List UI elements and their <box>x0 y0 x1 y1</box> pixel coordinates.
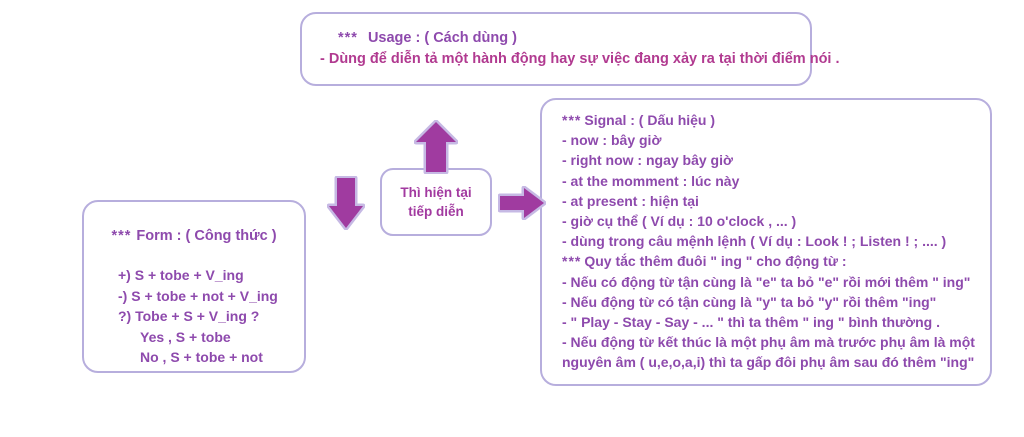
form-line-yes: Yes , S + tobe <box>118 327 304 348</box>
signal-item-specific-time: - giờ cụ thể ( Ví dụ : 10 o'clock , ... … <box>562 211 984 231</box>
signal-box: ***Signal : ( Dấu hiệu ) - now : bây giờ… <box>540 98 992 386</box>
form-line-question: ?) Tobe + S + V_ing ? <box>118 306 304 327</box>
center-node-line1: Thì hiện tại <box>400 183 471 202</box>
rule-item-double-consonant: - Nếu động từ kết thúc là một phụ âm mà … <box>562 332 984 372</box>
form-title: ***Form : ( Công thức ) <box>84 228 304 244</box>
form-stars: *** <box>111 228 131 244</box>
usage-heading: ***Usage : ( Cách dùng ) <box>320 28 800 49</box>
signal-item-at-the-momment: - at the momment : lúc này <box>562 171 984 191</box>
usage-box: ***Usage : ( Cách dùng ) - Dùng để diễn … <box>300 12 812 86</box>
usage-heading-text: Usage : ( Cách dùng ) <box>368 30 517 46</box>
usage-detail: - Dùng để diễn tả một hành động hay sự v… <box>320 49 800 70</box>
signal-stars: *** <box>562 112 581 128</box>
signal-heading-text: Signal : ( Dấu hiệu ) <box>584 112 715 128</box>
rule-item-play-stay-say: - " Play - Stay - Say - ... " thì ta thê… <box>562 312 984 332</box>
signal-heading: ***Signal : ( Dấu hiệu ) <box>562 110 984 130</box>
signal-item-right-now: - right now : ngay bây giờ <box>562 150 984 170</box>
form-formula-list: +) S + tobe + V_ing -) S + tobe + not + … <box>84 265 304 368</box>
usage-stars: *** <box>338 30 358 46</box>
signal-item-now: - now : bây giờ <box>562 130 984 150</box>
signal-item-at-present: - at present : hiện tại <box>562 191 984 211</box>
rule-stars: *** <box>562 253 581 269</box>
rule-heading-text: Quy tắc thêm đuôi " ing " cho động từ : <box>584 253 846 269</box>
arrow-down-icon <box>327 176 365 230</box>
form-line-no: No , S + tobe + not <box>118 347 304 368</box>
form-line-negative: -) S + tobe + not + V_ing <box>118 286 304 307</box>
center-node: Thì hiện tại tiếp diễn <box>380 168 492 236</box>
center-node-line2: tiếp diễn <box>408 202 464 221</box>
rule-item-y-ending: - Nếu động từ có tận cùng là "y" ta bỏ "… <box>562 292 984 312</box>
form-title-text: Form : ( Công thức ) <box>136 228 276 244</box>
rule-item-e-ending: - Nếu có động từ tận cùng là "e" ta bỏ "… <box>562 272 984 292</box>
form-line-affirmative: +) S + tobe + V_ing <box>118 265 304 286</box>
signal-item-imperative: - dùng trong câu mệnh lệnh ( Ví dụ : Loo… <box>562 231 984 251</box>
rule-heading: ***Quy tắc thêm đuôi " ing " cho động từ… <box>562 251 984 271</box>
form-box: ***Form : ( Công thức ) +) S + tobe + V_… <box>82 200 306 373</box>
arrow-right-icon <box>498 186 546 220</box>
arrow-up-icon <box>414 120 458 174</box>
